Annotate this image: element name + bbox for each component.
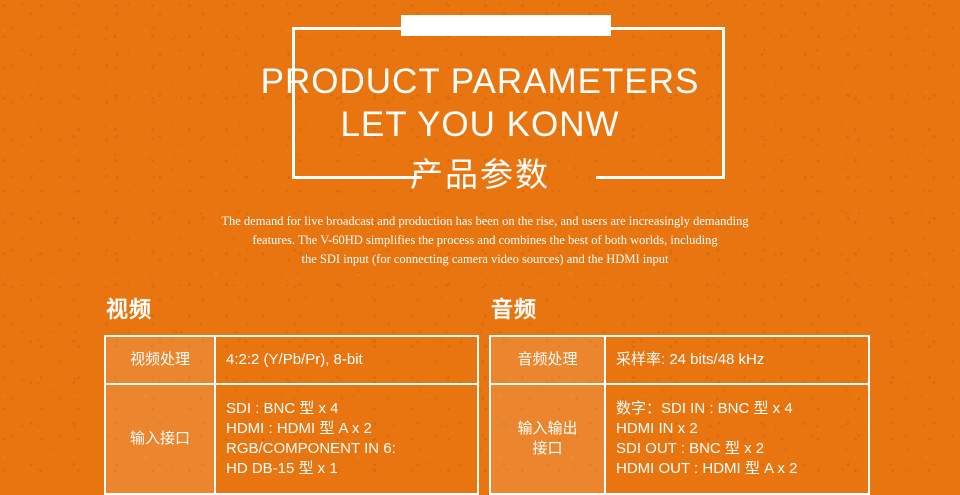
- table-row: 输入输出 接口 数字：SDI IN : BNC 型 x 4 HDMI IN x …: [490, 384, 869, 494]
- section-heading-audio: 音频: [491, 296, 870, 324]
- spec-label-cell: 输入接口: [105, 384, 215, 494]
- spec-value-cell: 数字：SDI IN : BNC 型 x 4 HDMI IN x 2 SDI OU…: [605, 384, 869, 494]
- spec-table-audio: 音频处理 采样率: 24 bits/48 kHz 输入输出 接口 数字：SDI …: [489, 335, 870, 495]
- spec-section-audio: 音频 音频处理 采样率: 24 bits/48 kHz 输入输出 接口 数字：S…: [489, 296, 870, 495]
- spec-value-cell: 4:2:2 (Y/Pb/Pr), 8-bit: [215, 336, 478, 384]
- page-title-english: PRODUCT PARAMETERS LET YOU KONW: [0, 60, 960, 146]
- table-row: 音频处理 采样率: 24 bits/48 kHz: [490, 336, 869, 384]
- hero-description: The demand for live broadcast and produc…: [155, 212, 815, 269]
- spec-label-cell: 输入输出 接口: [490, 384, 605, 494]
- spec-value-cell: SDI : BNC 型 x 4 HDMI : HDMI 型 A x 2 RGB/…: [215, 384, 478, 494]
- spec-value-cell: 采样率: 24 bits/48 kHz: [605, 336, 869, 384]
- title-accent-bar: [401, 15, 611, 36]
- hero-banner: PRODUCT PARAMETERS LET YOU KONW 产品参数 The…: [0, 0, 960, 290]
- bracket-top-right-line: [610, 27, 725, 30]
- table-row: 视频处理 4:2:2 (Y/Pb/Pr), 8-bit: [105, 336, 478, 384]
- table-row: 输入接口 SDI : BNC 型 x 4 HDMI : HDMI 型 A x 2…: [105, 384, 478, 494]
- page-title-chinese: 产品参数: [0, 155, 960, 195]
- spec-label-cell: 音频处理: [490, 336, 605, 384]
- spec-table-video: 视频处理 4:2:2 (Y/Pb/Pr), 8-bit 输入接口 SDI : B…: [104, 335, 479, 495]
- bracket-top-left-line: [292, 27, 402, 30]
- spec-label-cell: 视频处理: [105, 336, 215, 384]
- section-heading-video: 视频: [106, 296, 479, 324]
- spec-section-video: 视频 视频处理 4:2:2 (Y/Pb/Pr), 8-bit 输入接口 SDI …: [104, 296, 479, 495]
